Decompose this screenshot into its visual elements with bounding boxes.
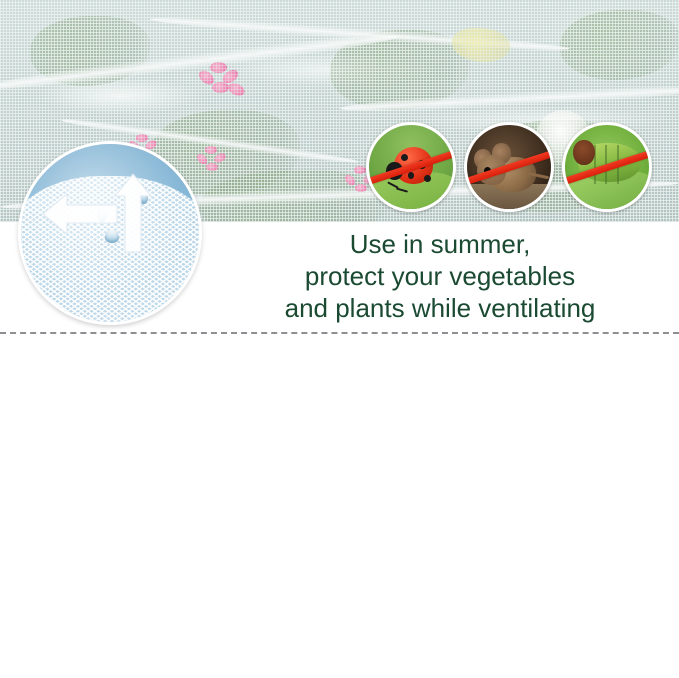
summer-caption-line-2: protect your vegetables [214, 260, 666, 292]
airflow-arrow-left-icon [41, 188, 119, 240]
ventilation-circle [18, 141, 202, 325]
airflow-arrow-up-icon [113, 172, 153, 254]
summer-caption: Use in summer, protect your vegetables a… [214, 228, 666, 325]
summer-caption-line-3: and plants while ventilating [214, 292, 666, 324]
pest-ladybug [366, 122, 456, 212]
pest-mouse [464, 122, 554, 212]
winter-panel: Use in winter, keep warm, prevent vegeta… [0, 352, 679, 678]
pest-caterpillar [562, 122, 652, 212]
product-feature-infographic: Use in summer, protect your vegetables a… [0, 0, 679, 678]
section-divider [0, 332, 679, 334]
summer-panel: Use in summer, protect your vegetables a… [0, 0, 679, 332]
ladybug-spot [408, 172, 415, 179]
summer-caption-line-1: Use in summer, [214, 228, 666, 260]
